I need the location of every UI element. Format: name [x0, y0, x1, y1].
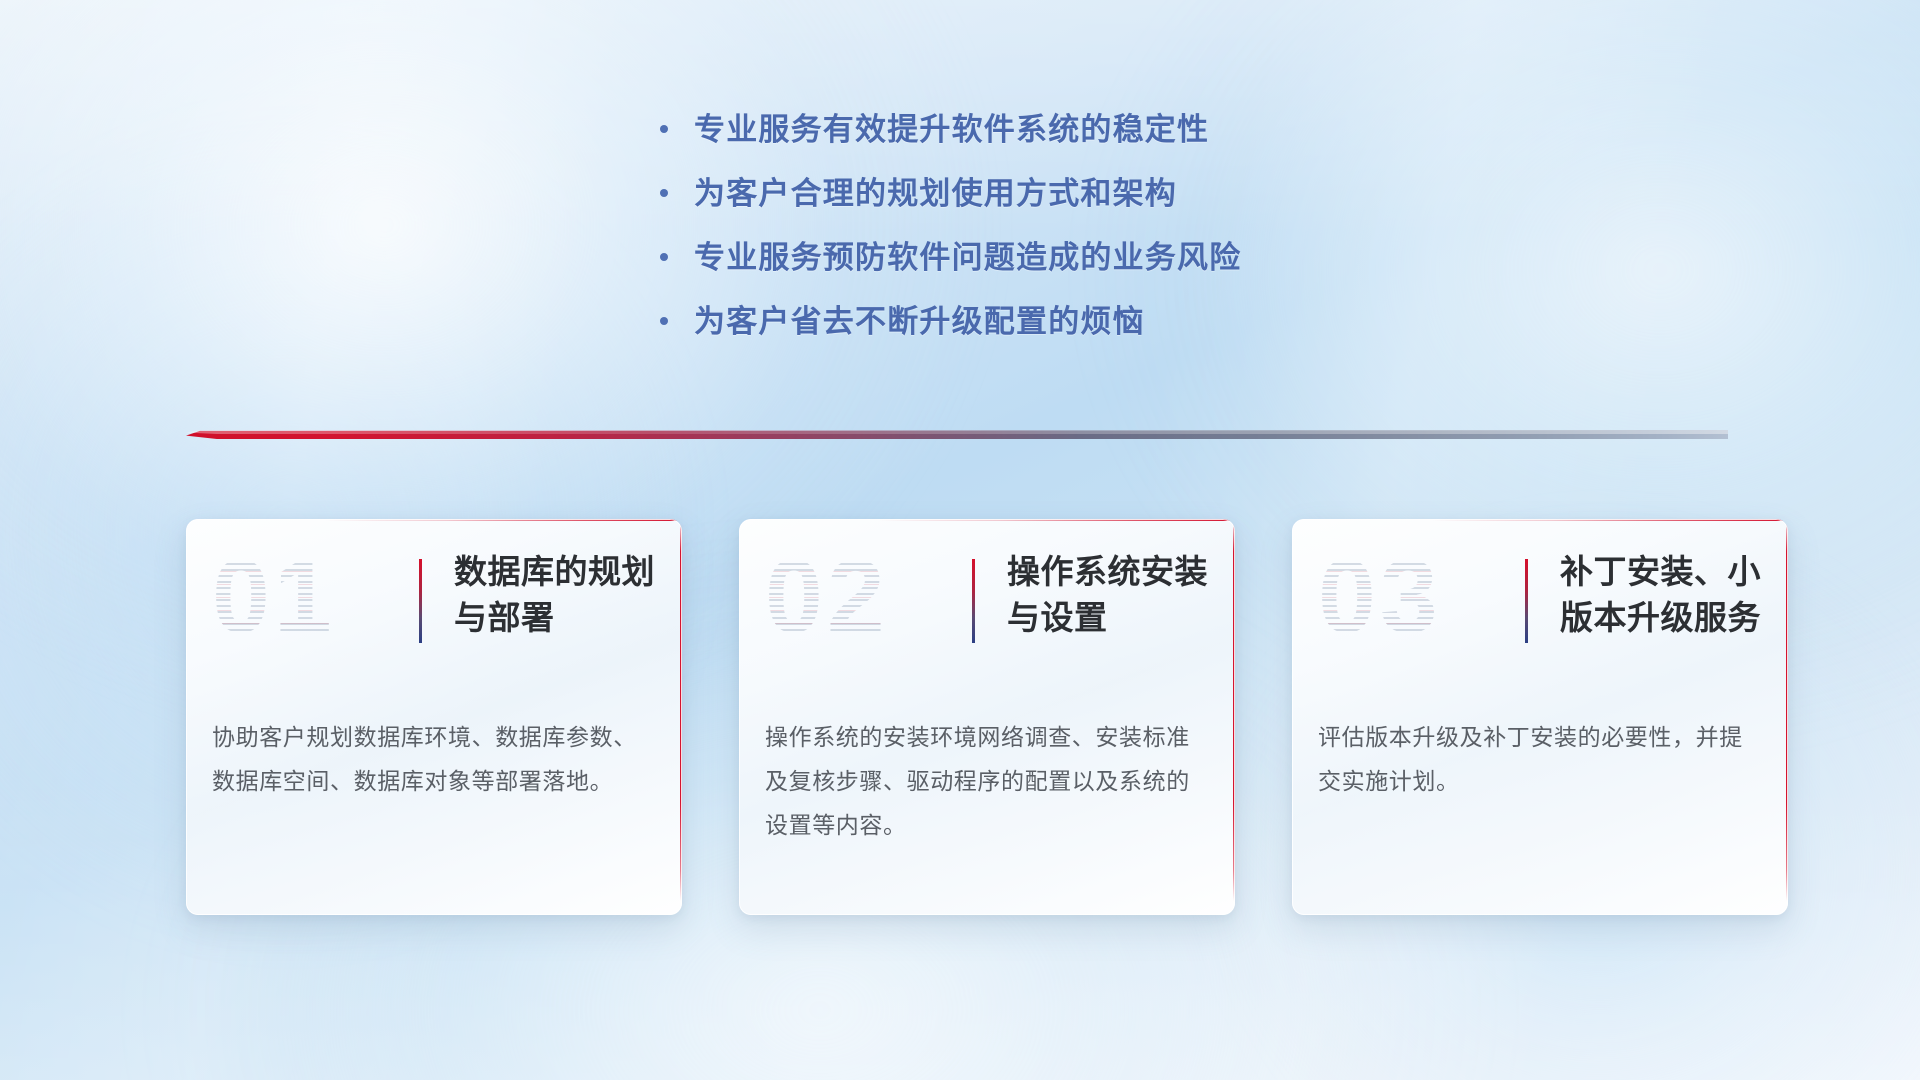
bullet-dot-icon	[660, 306, 694, 333]
divider-sheen	[186, 430, 1728, 434]
card-number-watermark-tint: 03	[1318, 545, 1442, 649]
card-header: 03 03 补丁安装、小版本升级服务	[1292, 519, 1788, 689]
bullet-dot-icon	[660, 178, 694, 205]
benefits-bullet-list: 专业服务有效提升软件系统的稳定性 为客户合理的规划使用方式和架构 专业服务预防软…	[660, 104, 1480, 360]
service-card-01[interactable]: 01 01 数据库的规划与部署 协助客户规划数据库环境、数据库参数、数据库空间、…	[186, 519, 682, 915]
bullet-text: 专业服务有效提升软件系统的稳定性	[694, 104, 1209, 149]
card-header: 01 01 数据库的规划与部署	[186, 519, 682, 689]
card-title-rule	[972, 559, 975, 643]
list-item: 专业服务有效提升软件系统的稳定性	[660, 104, 1480, 168]
card-title-rule	[419, 559, 422, 643]
card-body-text: 协助客户规划数据库环境、数据库参数、数据库空间、数据库对象等部署落地。	[212, 715, 656, 803]
section-divider	[186, 424, 1728, 446]
service-card-03[interactable]: 03 03 补丁安装、小版本升级服务 评估版本升级及补丁安装的必要性，并提交实施…	[1292, 519, 1788, 915]
list-item: 为客户省去不断升级配置的烦恼	[660, 296, 1480, 360]
card-number-watermark-tint: 01	[212, 545, 336, 649]
list-item: 专业服务预防软件问题造成的业务风险	[660, 232, 1480, 296]
bullet-text: 为客户合理的规划使用方式和架构	[694, 168, 1177, 213]
bullet-text: 为客户省去不断升级配置的烦恼	[694, 296, 1145, 341]
card-title: 补丁安装、小版本升级服务	[1560, 549, 1770, 640]
bullet-dot-icon	[660, 114, 694, 141]
bullet-text: 专业服务预防软件问题造成的业务风险	[694, 232, 1241, 277]
service-card-02[interactable]: 02 02 操作系统安装与设置 操作系统的安装环境网络调查、安装标准及复核步骤、…	[739, 519, 1235, 915]
bullet-dot-icon	[660, 242, 694, 269]
card-number-watermark-tint: 02	[765, 545, 889, 649]
card-title: 操作系统安装与设置	[1007, 549, 1217, 640]
service-card-group: 01 01 数据库的规划与部署 协助客户规划数据库环境、数据库参数、数据库空间、…	[186, 519, 1788, 915]
card-body-text: 操作系统的安装环境网络调查、安装标准及复核步骤、驱动程序的配置以及系统的设置等内…	[765, 715, 1209, 847]
list-item: 为客户合理的规划使用方式和架构	[660, 168, 1480, 232]
card-title-rule	[1525, 559, 1528, 643]
card-header: 02 02 操作系统安装与设置	[739, 519, 1235, 689]
card-title: 数据库的规划与部署	[454, 549, 664, 640]
slide-canvas: 专业服务有效提升软件系统的稳定性 为客户合理的规划使用方式和架构 专业服务预防软…	[0, 0, 1920, 1080]
card-body-text: 评估版本升级及补丁安装的必要性，并提交实施计划。	[1318, 715, 1762, 803]
